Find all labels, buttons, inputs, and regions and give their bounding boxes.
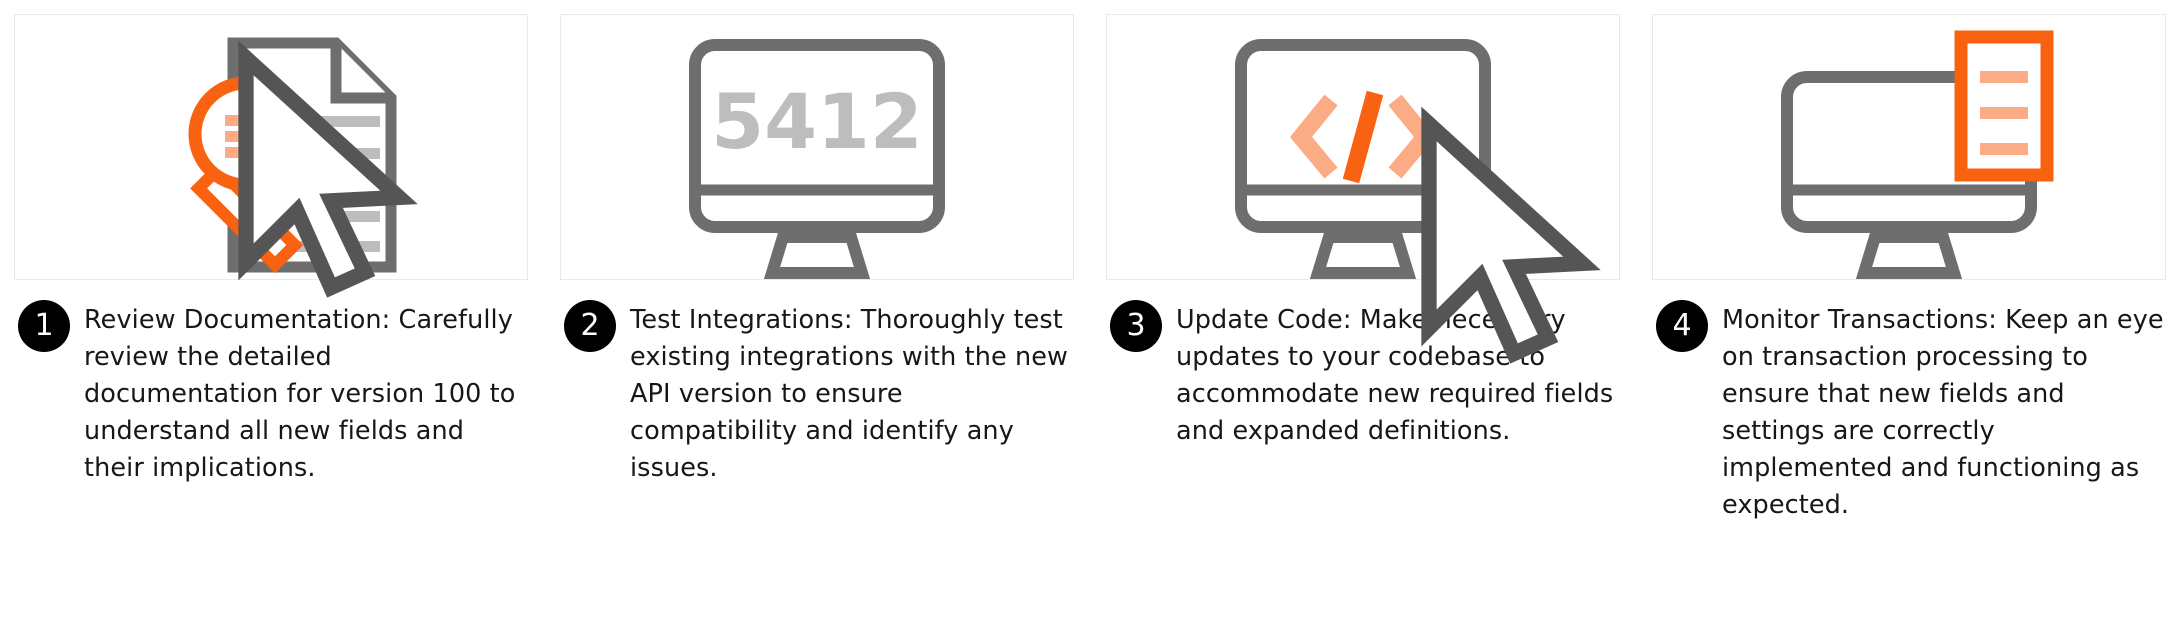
lens-cell [249, 131, 267, 142]
lens-cell [225, 115, 243, 126]
monitor-receipt-icon [1653, 15, 2165, 287]
receipt-line [1980, 71, 2028, 83]
step-3-number-badge: 3 [1110, 300, 1162, 352]
step-2-media-panel: 5412 [560, 14, 1074, 280]
step-1-number-badge: 1 [18, 300, 70, 352]
document-magnifier-icon [15, 15, 527, 287]
monitor-stand [1864, 237, 1954, 273]
doc-line [277, 180, 380, 191]
doc-line [297, 148, 380, 159]
step-4-text: Monitor Transactions: Keep an eye on tra… [1722, 300, 2166, 524]
receipt-line [1980, 143, 2028, 155]
receipt-line [1980, 107, 2028, 119]
step-1-media-panel [14, 14, 528, 280]
magnifier-lens [195, 83, 297, 185]
lens-cell [249, 147, 267, 158]
step-3-caption: 3 Update Code: Make necessary updates to… [1106, 300, 1620, 450]
lens-cell [225, 147, 243, 158]
step-2-text: Test Integrations: Thoroughly test exist… [630, 300, 1074, 487]
doc-line [277, 211, 380, 222]
step-4-media-panel [1652, 14, 2166, 280]
doc-line [297, 116, 380, 127]
step-2-caption: 2 Test Integrations: Thoroughly test exi… [560, 300, 1074, 487]
step-card-1: 1 Review Documentation: Carefully review… [14, 14, 528, 637]
step-3-text: Update Code: Make necessary updates to y… [1176, 300, 1620, 450]
step-card-2: 5412 2 Test Integrations: Thoroughly tes… [560, 14, 1074, 637]
step-3-media-panel [1106, 14, 1620, 280]
monitor-stand [772, 237, 862, 273]
step-2-number-badge: 2 [564, 300, 616, 352]
lens-cell [225, 131, 243, 142]
step-1-text: Review Documentation: Carefully review t… [84, 300, 528, 487]
steps-row: 1 Review Documentation: Carefully review… [0, 0, 2180, 637]
monitor-number-icon: 5412 [561, 15, 1073, 287]
step-card-3: 3 Update Code: Make necessary updates to… [1106, 14, 1620, 637]
document-fold [336, 43, 391, 98]
monitor-screen-number: 5412 [711, 77, 923, 166]
step-card-4: 4 Monitor Transactions: Keep an eye on t… [1652, 14, 2166, 637]
monitor-code-icon [1107, 15, 1619, 287]
step-1-caption: 1 Review Documentation: Carefully review… [14, 300, 528, 487]
step-4-caption: 4 Monitor Transactions: Keep an eye on t… [1652, 300, 2166, 524]
lens-cell [249, 115, 267, 126]
monitor-stand [1318, 237, 1408, 273]
step-4-number-badge: 4 [1656, 300, 1708, 352]
